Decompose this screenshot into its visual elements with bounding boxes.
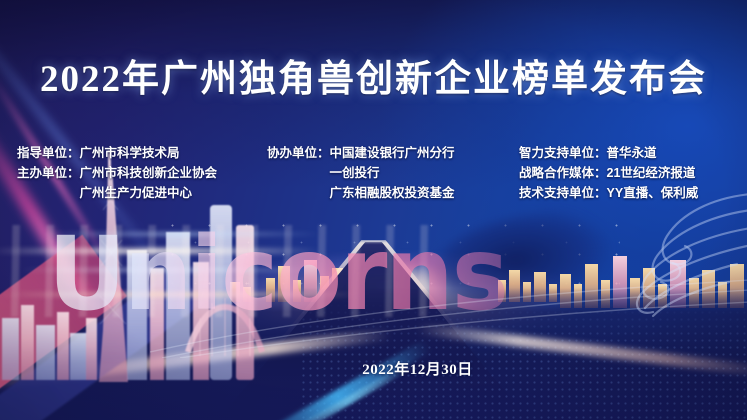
credit-value: 广东相融股权投资基金 — [330, 183, 455, 203]
credit-label: 协办单位： — [267, 143, 330, 163]
credit-line: 主办单位： 广州市科技创新企业协会 — [17, 163, 267, 183]
credit-label: 主办单位： — [17, 163, 80, 183]
credits-column-right: 智力支持单位： 普华永道 战略合作媒体： 21世纪经济报道 技术支持单位： YY… — [519, 143, 747, 203]
credit-value: 广州市科技创新企业协会 — [80, 163, 218, 183]
credit-line: 技术支持单位： YY直播、保利威 — [519, 183, 747, 203]
credit-line: 战略合作媒体： 21世纪经济报道 — [519, 163, 747, 183]
flowing-wave-motif-icon — [561, 188, 747, 338]
credit-line: 主办单位： 广州生产力促进中心 — [17, 183, 267, 203]
poster-root: Unicorns 2022年广州独角兽创新企业榜单发布会 指导单位： 广州市科学… — [0, 0, 747, 420]
credit-line: 协办单位： 一创投行 — [267, 163, 507, 183]
credit-value: 中国建设银行广州分行 — [330, 143, 455, 163]
credit-line: 智力支持单位： 普华永道 — [519, 143, 747, 163]
page-title: 2022年广州独角兽创新企业榜单发布会 — [0, 48, 747, 102]
credit-value: 普华永道 — [607, 143, 657, 163]
credit-value: 一创投行 — [330, 163, 380, 183]
event-date-text: 2022年12月30日 — [362, 362, 473, 378]
credits-column-left: 指导单位： 广州市科学技术局 主办单位： 广州市科技创新企业协会 主办单位： 广… — [17, 143, 267, 203]
credit-label: 指导单位： — [17, 143, 80, 163]
credit-label: 技术支持单位： — [519, 183, 607, 203]
credit-value: 广州生产力促进中心 — [80, 183, 193, 203]
event-date: 2022年12月30日 — [0, 358, 747, 379]
watermark-unicorns: Unicorns — [48, 223, 507, 325]
credits-column-middle: 协办单位： 中国建设银行广州分行 协办单位： 一创投行 协办单位： 广东相融股权… — [267, 143, 507, 203]
credit-line: 协办单位： 广东相融股权投资基金 — [267, 183, 507, 203]
credit-value: 21世纪经济报道 — [607, 163, 696, 183]
credit-value: YY直播、保利威 — [607, 183, 699, 203]
credit-label: 战略合作媒体： — [519, 163, 607, 183]
credit-value: 广州市科学技术局 — [80, 143, 180, 163]
credit-line: 协办单位： 中国建设银行广州分行 — [267, 143, 507, 163]
credit-line: 指导单位： 广州市科学技术局 — [17, 143, 267, 163]
credit-label: 智力支持单位： — [519, 143, 607, 163]
